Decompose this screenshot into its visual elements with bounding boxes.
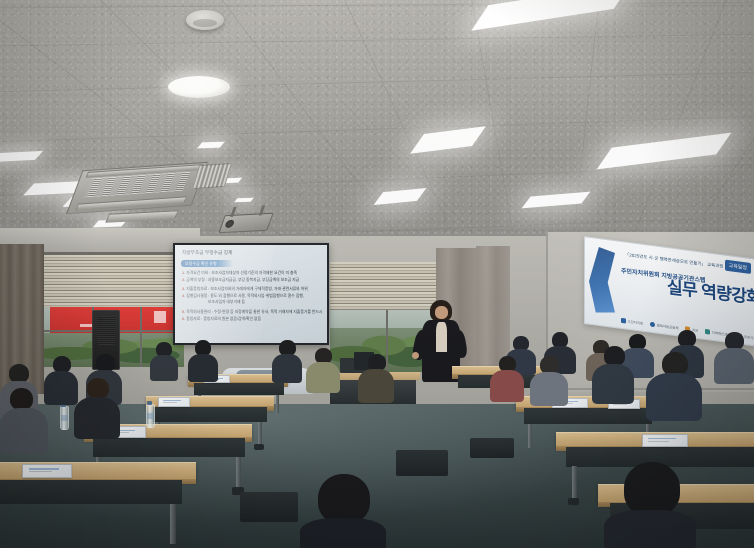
seated-attendee bbox=[0, 388, 48, 450]
seated-attendee bbox=[358, 354, 394, 400]
stacking-chair bbox=[470, 438, 514, 458]
seated-attendee bbox=[490, 356, 524, 400]
sponsor-logo-label: 주민자치회 bbox=[628, 319, 644, 326]
bullet-number: 2. bbox=[182, 278, 185, 282]
seated-attendee bbox=[714, 332, 754, 382]
foreground-attendee bbox=[300, 474, 386, 548]
attendee-torso bbox=[74, 397, 120, 439]
bullet-number: 3. bbox=[182, 287, 185, 291]
attendee-torso bbox=[150, 355, 178, 381]
ceiling-mounted-projector bbox=[218, 213, 273, 233]
projection-screen: 지방부조금 부정수급 징계 부정수급 확인 유형 1. 자격요건 미비 : 보조… bbox=[173, 243, 329, 345]
attendee-torso bbox=[714, 348, 754, 384]
attendee-torso bbox=[0, 408, 48, 454]
presenter-shirt bbox=[436, 322, 447, 352]
slide-bullet-continuation: 보조사업자 내부거래 등 bbox=[182, 299, 322, 306]
attendee-head bbox=[10, 388, 33, 410]
attendee-torso bbox=[188, 354, 218, 382]
slide-bullet: 4. 집행검사결정 : 용도 외 집행으로 사용, 목적외사업·위법집행으로 환… bbox=[182, 293, 322, 300]
desk-leg bbox=[572, 466, 577, 500]
slide-section-header: 부정수급 확인 유형 bbox=[181, 260, 233, 267]
desk-caster bbox=[254, 444, 264, 450]
slide-bullet: 2. 금액의 부정 : 과중보조금지급금, 부당 중복지급, 부당금액의 보조금… bbox=[182, 277, 322, 284]
attendee-torso bbox=[272, 354, 302, 383]
bottle-cap bbox=[147, 401, 152, 405]
presenter-face bbox=[435, 306, 448, 319]
attendee-torso bbox=[604, 510, 696, 548]
slide-bullet: 5. 목적외사용관리 : 수정·변경 등 지정계약을 통한 유사, 목적 거래자… bbox=[182, 309, 322, 316]
banner-emblem-icon bbox=[589, 246, 615, 315]
sponsor-logo: 주민자치회 bbox=[621, 318, 643, 326]
seated-attendee bbox=[150, 342, 178, 378]
bullet-text: 보조사업자 내부거래 등 bbox=[208, 300, 245, 304]
attendee-torso bbox=[592, 364, 634, 404]
bullet-text: 금액의 부정 : 과중보조금지급금, 부당 중복지급, 부당금액의 보조금 지급 bbox=[186, 278, 299, 282]
attendee-torso bbox=[646, 373, 702, 421]
stacking-chair bbox=[396, 450, 448, 476]
seated-attendee bbox=[272, 340, 302, 380]
surface-mount-luminaire bbox=[168, 76, 230, 98]
logo-mark-icon bbox=[705, 329, 710, 335]
window-mullion bbox=[140, 307, 142, 367]
desk-modesty-panel bbox=[194, 383, 284, 395]
printed-handout bbox=[22, 464, 72, 478]
slide-bullet: 6. 증빙자료 : 증빙자료의 원본 없음/감액/확인 없음 bbox=[182, 316, 322, 323]
slide-section-header-label: 부정수급 확인 유형 bbox=[185, 261, 217, 267]
slide-title: 지방부조금 부정수급 징계 bbox=[182, 250, 321, 256]
attendee-head bbox=[604, 346, 625, 366]
seminar-room-photo: 지방부조금 부정수급 징계 부정수급 확인 유형 1. 자격요건 미비 : 보조… bbox=[0, 0, 754, 548]
attendee-torso bbox=[358, 369, 394, 403]
seated-attendee bbox=[530, 356, 568, 404]
printed-handout bbox=[158, 397, 190, 407]
smoke-detector-icon bbox=[186, 10, 224, 30]
logo-mark-icon bbox=[650, 322, 655, 328]
desk-modesty-panel bbox=[93, 438, 245, 457]
presenter-hand bbox=[412, 352, 419, 359]
bullet-number: 4. bbox=[182, 294, 185, 298]
desk-leg bbox=[528, 424, 532, 448]
seated-attendee bbox=[44, 356, 78, 402]
window-curtain-right bbox=[476, 246, 510, 366]
water-bottle bbox=[60, 406, 69, 430]
desk-leg bbox=[276, 395, 279, 413]
foreground-attendee bbox=[604, 462, 696, 548]
bullet-text: 지출증빙자료 : 보조사업자와의 거래자에게 구체적증빙, 거래·관련서류와 허… bbox=[186, 287, 307, 291]
desk-modesty-panel bbox=[0, 480, 182, 504]
bullet-text: 증빙자료 : 증빙자료의 원본 없음/감액/확인 없음 bbox=[186, 317, 261, 321]
slide-bullet: 1. 자격요건 미비 : 보조사업자대상자 선정기준의 자격제한 요건이 미 충… bbox=[182, 270, 322, 277]
water-bottle bbox=[146, 404, 155, 428]
bullet-text: 집행검사결정 : 용도 외 집행으로 사용, 목적외사업·위법집행으로 환수 집… bbox=[186, 294, 304, 298]
banner-corner-tag: 교육일정 bbox=[725, 260, 751, 274]
bullet-text: 목적외사용관리 : 수정·변경 등 지정계약을 통한 유사, 목적 거래자에 지… bbox=[186, 310, 322, 314]
exterior-sign bbox=[154, 311, 166, 323]
desk-modesty-panel bbox=[153, 407, 267, 422]
slide-bullet-list: 1. 자격요건 미비 : 보조사업자대상자 선정기준의 자격제한 요건이 미 충… bbox=[182, 270, 322, 322]
attendee-head bbox=[624, 462, 680, 516]
seated-attendee bbox=[188, 340, 218, 378]
attendee-torso bbox=[306, 362, 340, 393]
slide-bullet: 3. 지출증빙자료 : 보조사업자와의 거래자에게 구체적증빙, 거래·관련서류… bbox=[182, 286, 322, 293]
attendee-head bbox=[318, 474, 370, 524]
attendee-torso bbox=[44, 371, 78, 405]
banner-title: 실무 역량강화 교육 bbox=[667, 273, 754, 313]
attendee-head bbox=[87, 378, 109, 399]
desk-modesty-panel bbox=[524, 408, 652, 424]
attendee-torso bbox=[300, 518, 386, 548]
window-blinds bbox=[42, 255, 184, 307]
desk-caster bbox=[568, 498, 579, 505]
seated-attendee bbox=[592, 346, 634, 402]
seated-attendee bbox=[74, 378, 120, 436]
projected-slide: 지방부조금 부정수급 징계 부정수급 확인 유형 1. 자격요건 미비 : 보조… bbox=[175, 245, 327, 343]
ceiling bbox=[0, 0, 754, 248]
logo-mark-icon bbox=[621, 318, 626, 324]
bullet-text: 자격요건 미비 : 보조사업자대상자 선정기준의 자격제한 요건이 미 충족 bbox=[186, 271, 297, 275]
bullet-number: 5. bbox=[182, 310, 185, 314]
bullet-number: 1. bbox=[182, 271, 185, 275]
desk-leg bbox=[258, 422, 262, 446]
seated-attendee bbox=[306, 348, 340, 390]
attendee-torso bbox=[530, 372, 568, 406]
attendee-torso bbox=[490, 370, 524, 402]
printed-handout bbox=[642, 434, 688, 447]
desk-leg bbox=[170, 504, 176, 544]
stacking-chair bbox=[240, 492, 298, 522]
desk-leg bbox=[236, 457, 241, 489]
bullet-number: 6. bbox=[182, 317, 185, 321]
seated-attendee bbox=[646, 352, 702, 418]
banner-subtitle: 「2025년도 시·군 행복한세상으로 만들기」 교육과정 bbox=[625, 252, 723, 270]
